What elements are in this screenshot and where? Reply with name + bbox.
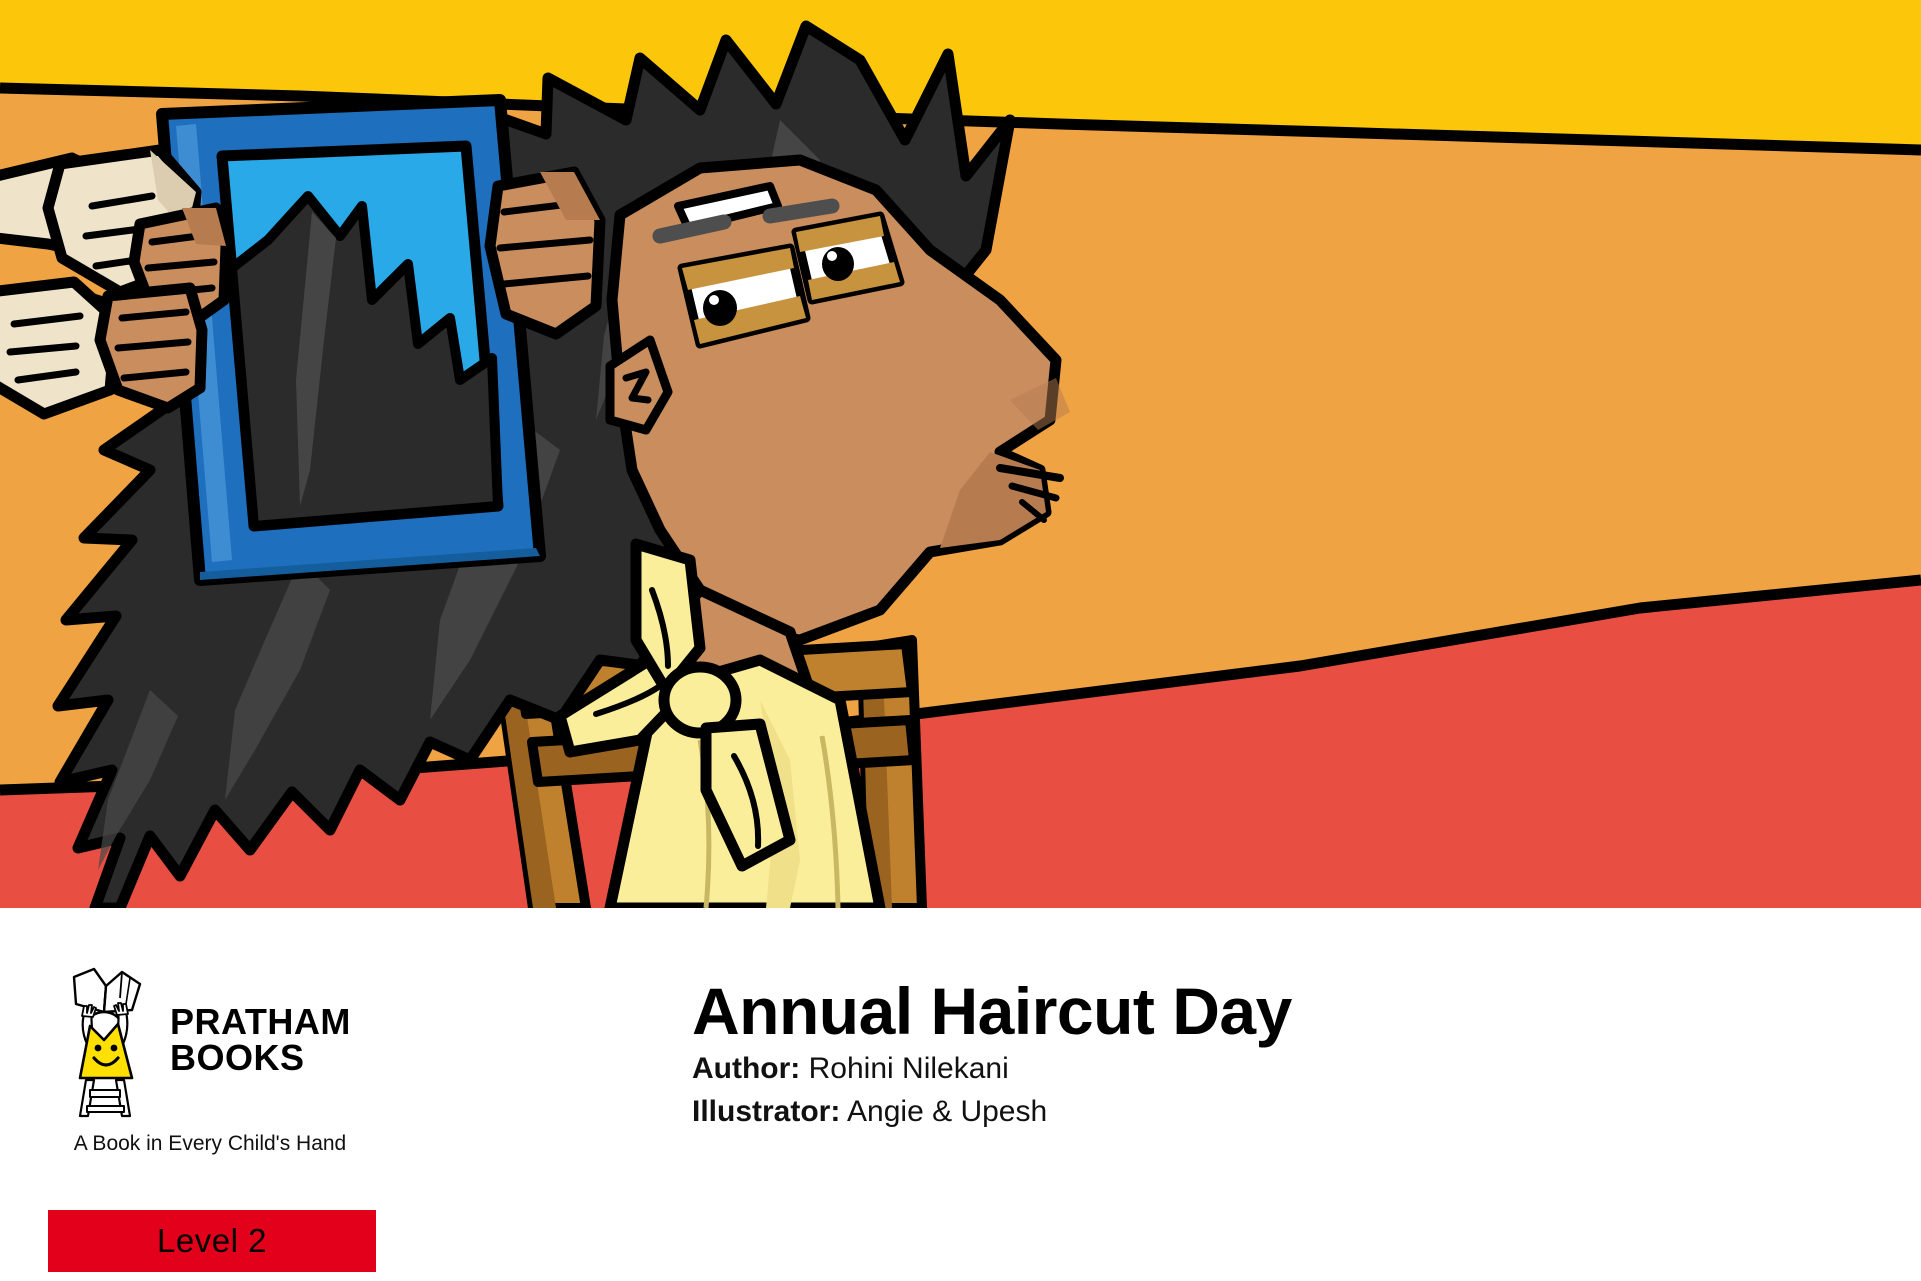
publisher-name-line-1: PRATHAM — [170, 1004, 351, 1040]
illustrator-label: Illustrator: — [692, 1095, 840, 1128]
pratham-child-with-book-icon — [60, 960, 158, 1120]
publisher-name-line-2: BOOKS — [170, 1040, 351, 1076]
eye-right — [796, 216, 900, 300]
level-badge: Level 2 — [48, 1210, 376, 1272]
author-credit: Author: Rohini Nilekani — [692, 1051, 1872, 1088]
title-block: Annual Haircut Day Author: Rohini Nileka… — [692, 978, 1872, 1131]
publisher-wordmark: PRATHAM BOOKS — [170, 1004, 351, 1076]
author-name: Rohini Nilekani — [809, 1052, 1009, 1085]
publisher-tagline: A Book in Every Child's Hand — [60, 1132, 360, 1156]
level-badge-label: Level 2 — [157, 1222, 267, 1260]
handheld-mirror — [162, 100, 540, 580]
cover-artwork — [0, 0, 1921, 908]
book-title: Annual Haircut Day — [692, 978, 1872, 1045]
author-label: Author: — [692, 1052, 800, 1085]
publisher-block: PRATHAM BOOKS A Book in Every Child's Ha… — [60, 960, 390, 1156]
cover-illustration — [0, 0, 1921, 908]
illustrator-credit: Illustrator: Angie & Upesh — [692, 1094, 1872, 1131]
publisher-logo-row: PRATHAM BOOKS — [60, 960, 390, 1120]
illustrator-name: Angie & Upesh — [847, 1095, 1047, 1128]
